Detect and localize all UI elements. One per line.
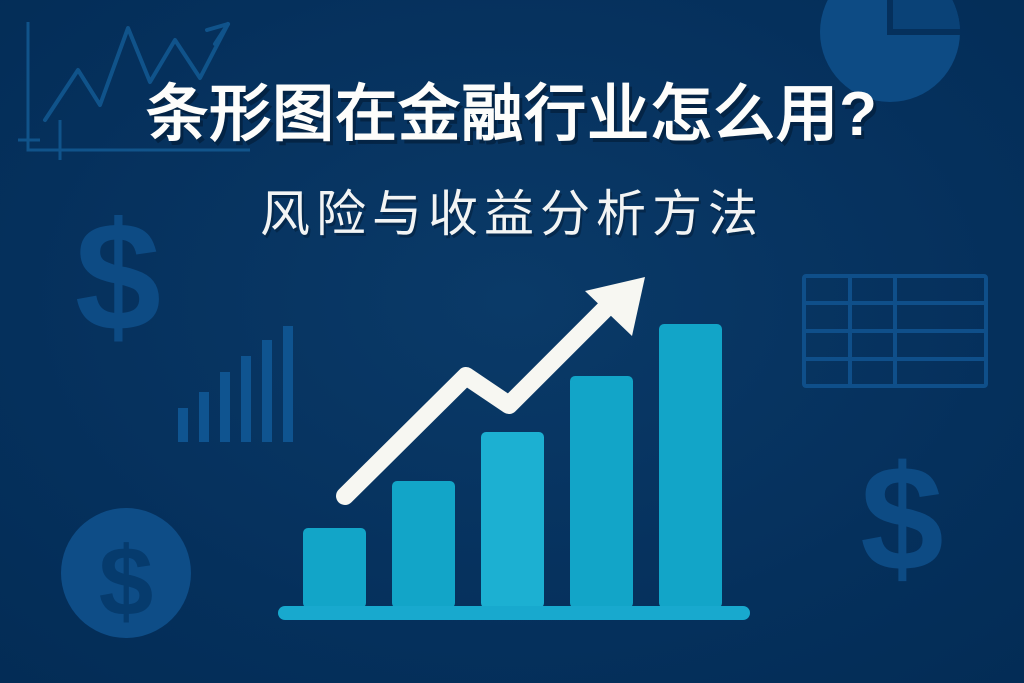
bar-3 [481, 432, 544, 608]
bar-2 [392, 481, 455, 608]
bar-4 [570, 376, 633, 608]
page-subtitle: 风险与收益分析方法 [0, 183, 1024, 245]
chart-baseline [278, 606, 750, 620]
page-title: 条形图在金融行业怎么用? [0, 78, 1024, 152]
bar-1 [303, 528, 366, 608]
bar-5 [659, 324, 722, 608]
poster-canvas: $ $ $ [0, 0, 1024, 683]
